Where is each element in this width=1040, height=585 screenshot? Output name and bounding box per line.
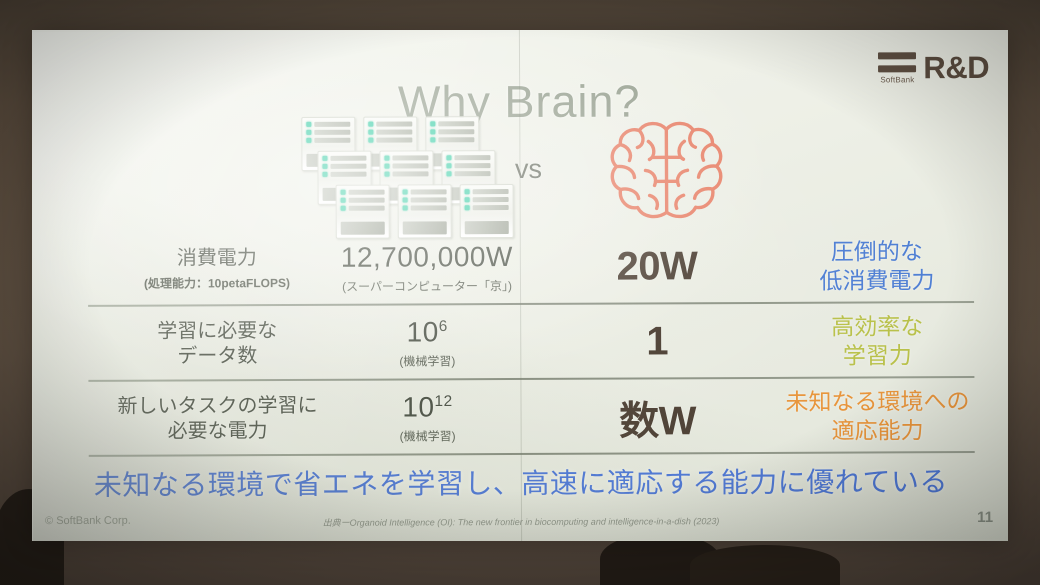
page-number: 11 [977,509,993,526]
computer-value-cell: 1012 (機械学習) [312,380,542,456]
softbank-logo-mark: SoftBank [878,52,916,84]
computer-value-base: 10 [402,391,434,422]
brain-value-cell: 数W [552,379,762,455]
row-label-line1: 学習に必要な [157,320,277,343]
row-note-line2: 適応能力 [832,417,924,443]
computer-value: 12,700,000W [341,241,513,274]
row-label-sub: (処理能力：10petaFLOPS) [144,274,290,292]
row-label-cell: 消費電力 (処理能力：10petaFLOPS) [102,231,332,307]
projected-slide: Why Brain? SoftBank R&D [32,30,1008,541]
computer-value: 106 [407,316,448,348]
logo-brand-label: SoftBank [880,75,914,84]
server-rack-cluster-icon [301,116,492,239]
row-note-line1: 未知なる環境への [785,388,969,415]
row-label-line2: 必要な電力 [168,420,268,442]
row-note-line2: 学習力 [843,342,912,368]
brain-outline-icon [601,113,732,236]
audience-silhouette-right [690,545,840,585]
row-note-line2: 低消費電力 [819,267,934,294]
computer-value-exponent: 6 [439,318,448,335]
row-label-cell: 学習に必要な データ数 [102,306,332,382]
computer-value-sub: (スーパーコンピューター「京」) [342,277,512,295]
row-note-line1: 高効率な [831,313,923,339]
computer-value-base: 10 [407,316,439,347]
brain-value: 1 [646,319,668,364]
brain-value-cell: 1 [552,304,762,380]
row-note: 圧倒的な 低消費電力 [819,237,934,295]
row-label-line1: 新しいタスクの学習に [117,395,317,418]
computer-value-sub: (機械学習) [400,427,456,444]
row-label: 消費電力 [177,246,257,271]
row-note: 高効率な 学習力 [831,312,923,370]
row-label-line2: データ数 [177,345,257,367]
row-note-cell: 高効率な 学習力 [762,303,992,379]
row-label: 学習に必要な データ数 [157,319,277,368]
row-label: 新しいタスクの学習に 必要な電力 [117,394,317,444]
logo-division-label: R&D [923,50,989,86]
row-note: 未知なる環境への 適応能力 [785,387,969,445]
brain-value-cell: 20W [552,229,762,305]
computer-value: 1012 [402,391,452,423]
versus-label: vs [483,154,573,185]
computer-value-sub: (機械学習) [399,352,455,369]
brain-value: 数W [619,388,696,446]
row-note-cell: 未知なる環境への 適応能力 [762,378,992,454]
row-label-cell: 新しいタスクの学習に 必要な電力 [102,381,332,457]
row-note-cell: 圧倒的な 低消費電力 [762,228,992,304]
logo-bar-top [878,52,916,59]
row-note-line1: 圧倒的な [831,238,923,264]
computer-value-cell: 106 (機械学習) [312,305,542,381]
brain-value: 20W [616,244,697,289]
softbank-rd-logo: SoftBank R&D [878,50,989,86]
logo-bar-bottom [878,65,916,72]
computer-value-cell: 12,700,000W (スーパーコンピューター「京」) [312,230,542,306]
computer-value-exponent: 12 [434,393,452,410]
